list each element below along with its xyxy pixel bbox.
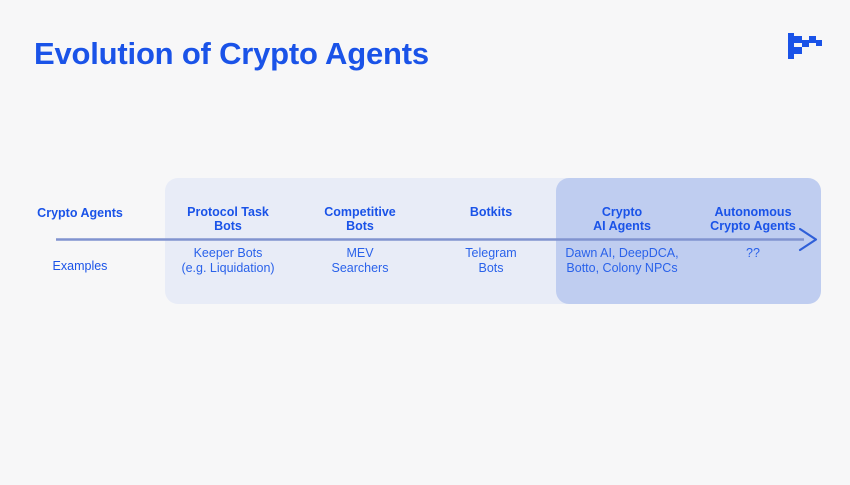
stage-example-3: Dawn AI, DeepDCA, Botto, Colony NPCs xyxy=(547,246,697,275)
stage-example-2: Telegram Bots xyxy=(416,246,566,275)
stage-header-2: Botkits xyxy=(416,205,566,219)
stage-header-1: Competitive Bots xyxy=(285,205,435,233)
row-label-examples: Examples xyxy=(0,259,160,273)
row-label-stage: Crypto Agents xyxy=(0,206,160,220)
evolution-timeline-diagram: Crypto Agents Examples Protocol Task Bot… xyxy=(0,0,850,485)
stage-example-1: MEV Searchers xyxy=(285,246,435,275)
stage-header-0: Protocol Task Bots xyxy=(153,205,303,233)
stage-example-4: ?? xyxy=(678,246,828,261)
stage-header-3: Crypto AI Agents xyxy=(547,205,697,233)
stage-header-4: Autonomous Crypto Agents xyxy=(678,205,828,233)
stage-example-0: Keeper Bots (e.g. Liquidation) xyxy=(153,246,303,275)
